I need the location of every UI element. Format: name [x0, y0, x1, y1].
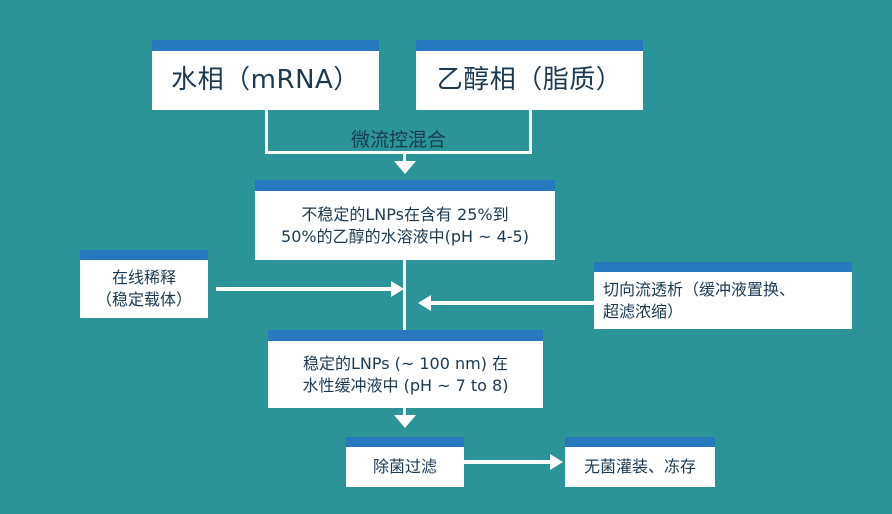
connector-dilution-stem	[216, 287, 393, 291]
node-unstable-lnps-label: 不稳定的LNPs在含有 25%到 50%的乙醇的水溶液中(pH ~ 4-5)	[255, 191, 555, 260]
arrowhead-left-icon	[418, 295, 431, 311]
flowchart-canvas: 水相（mRNA） 乙醇相（脂质） 微流控混合 不稳定的LNPs在含有 25%到 …	[0, 0, 892, 514]
edge-label-microfluidic-mixing: 微流控混合	[265, 125, 532, 152]
node-ethanol-phase-label: 乙醇相（脂质）	[416, 51, 643, 110]
node-header-bar	[152, 40, 379, 51]
node-header-bar	[255, 180, 555, 191]
node-aseptic-fill-freeze-label: 无菌灌装、冻存	[565, 447, 715, 487]
node-header-bar	[594, 262, 852, 272]
node-unstable-lnps[interactable]: 不稳定的LNPs在含有 25%到 50%的乙醇的水溶液中(pH ~ 4-5)	[255, 180, 555, 260]
node-tangential-flow-label: 切向流透析（缓冲液置换、 超滤浓缩）	[594, 272, 852, 329]
arrowhead-right-icon	[550, 454, 563, 470]
node-header-bar	[416, 40, 643, 51]
node-aqueous-phase[interactable]: 水相（mRNA）	[152, 40, 379, 110]
node-sterile-filtration[interactable]: 除菌过滤	[346, 437, 464, 487]
node-header-bar	[80, 250, 208, 260]
node-stable-lnps-label: 稳定的LNPs (~ 100 nm) 在 水性缓冲液中 (pH ~ 7 to 8…	[268, 341, 543, 408]
connector-tff-stem	[431, 301, 594, 305]
node-stable-lnps[interactable]: 稳定的LNPs (~ 100 nm) 在 水性缓冲液中 (pH ~ 7 to 8…	[268, 330, 543, 408]
arrowhead-right-icon	[391, 281, 404, 297]
node-inline-dilution[interactable]: 在线稀释 （稳定载体）	[80, 250, 208, 318]
node-aseptic-fill-freeze[interactable]: 无菌灌装、冻存	[565, 437, 715, 487]
node-header-bar	[346, 437, 464, 447]
node-header-bar	[565, 437, 715, 447]
node-aqueous-phase-label: 水相（mRNA）	[152, 51, 379, 110]
connector-to-fill-stem	[464, 460, 552, 464]
node-ethanol-phase[interactable]: 乙醇相（脂质）	[416, 40, 643, 110]
node-inline-dilution-label: 在线稀释 （稳定载体）	[80, 260, 208, 318]
arrowhead-down-icon	[394, 415, 416, 428]
node-sterile-filtration-label: 除菌过滤	[346, 447, 464, 487]
node-tangential-flow-filtration[interactable]: 切向流透析（缓冲液置换、 超滤浓缩）	[594, 262, 852, 329]
node-header-bar	[268, 330, 543, 341]
arrowhead-down-icon	[394, 161, 416, 174]
